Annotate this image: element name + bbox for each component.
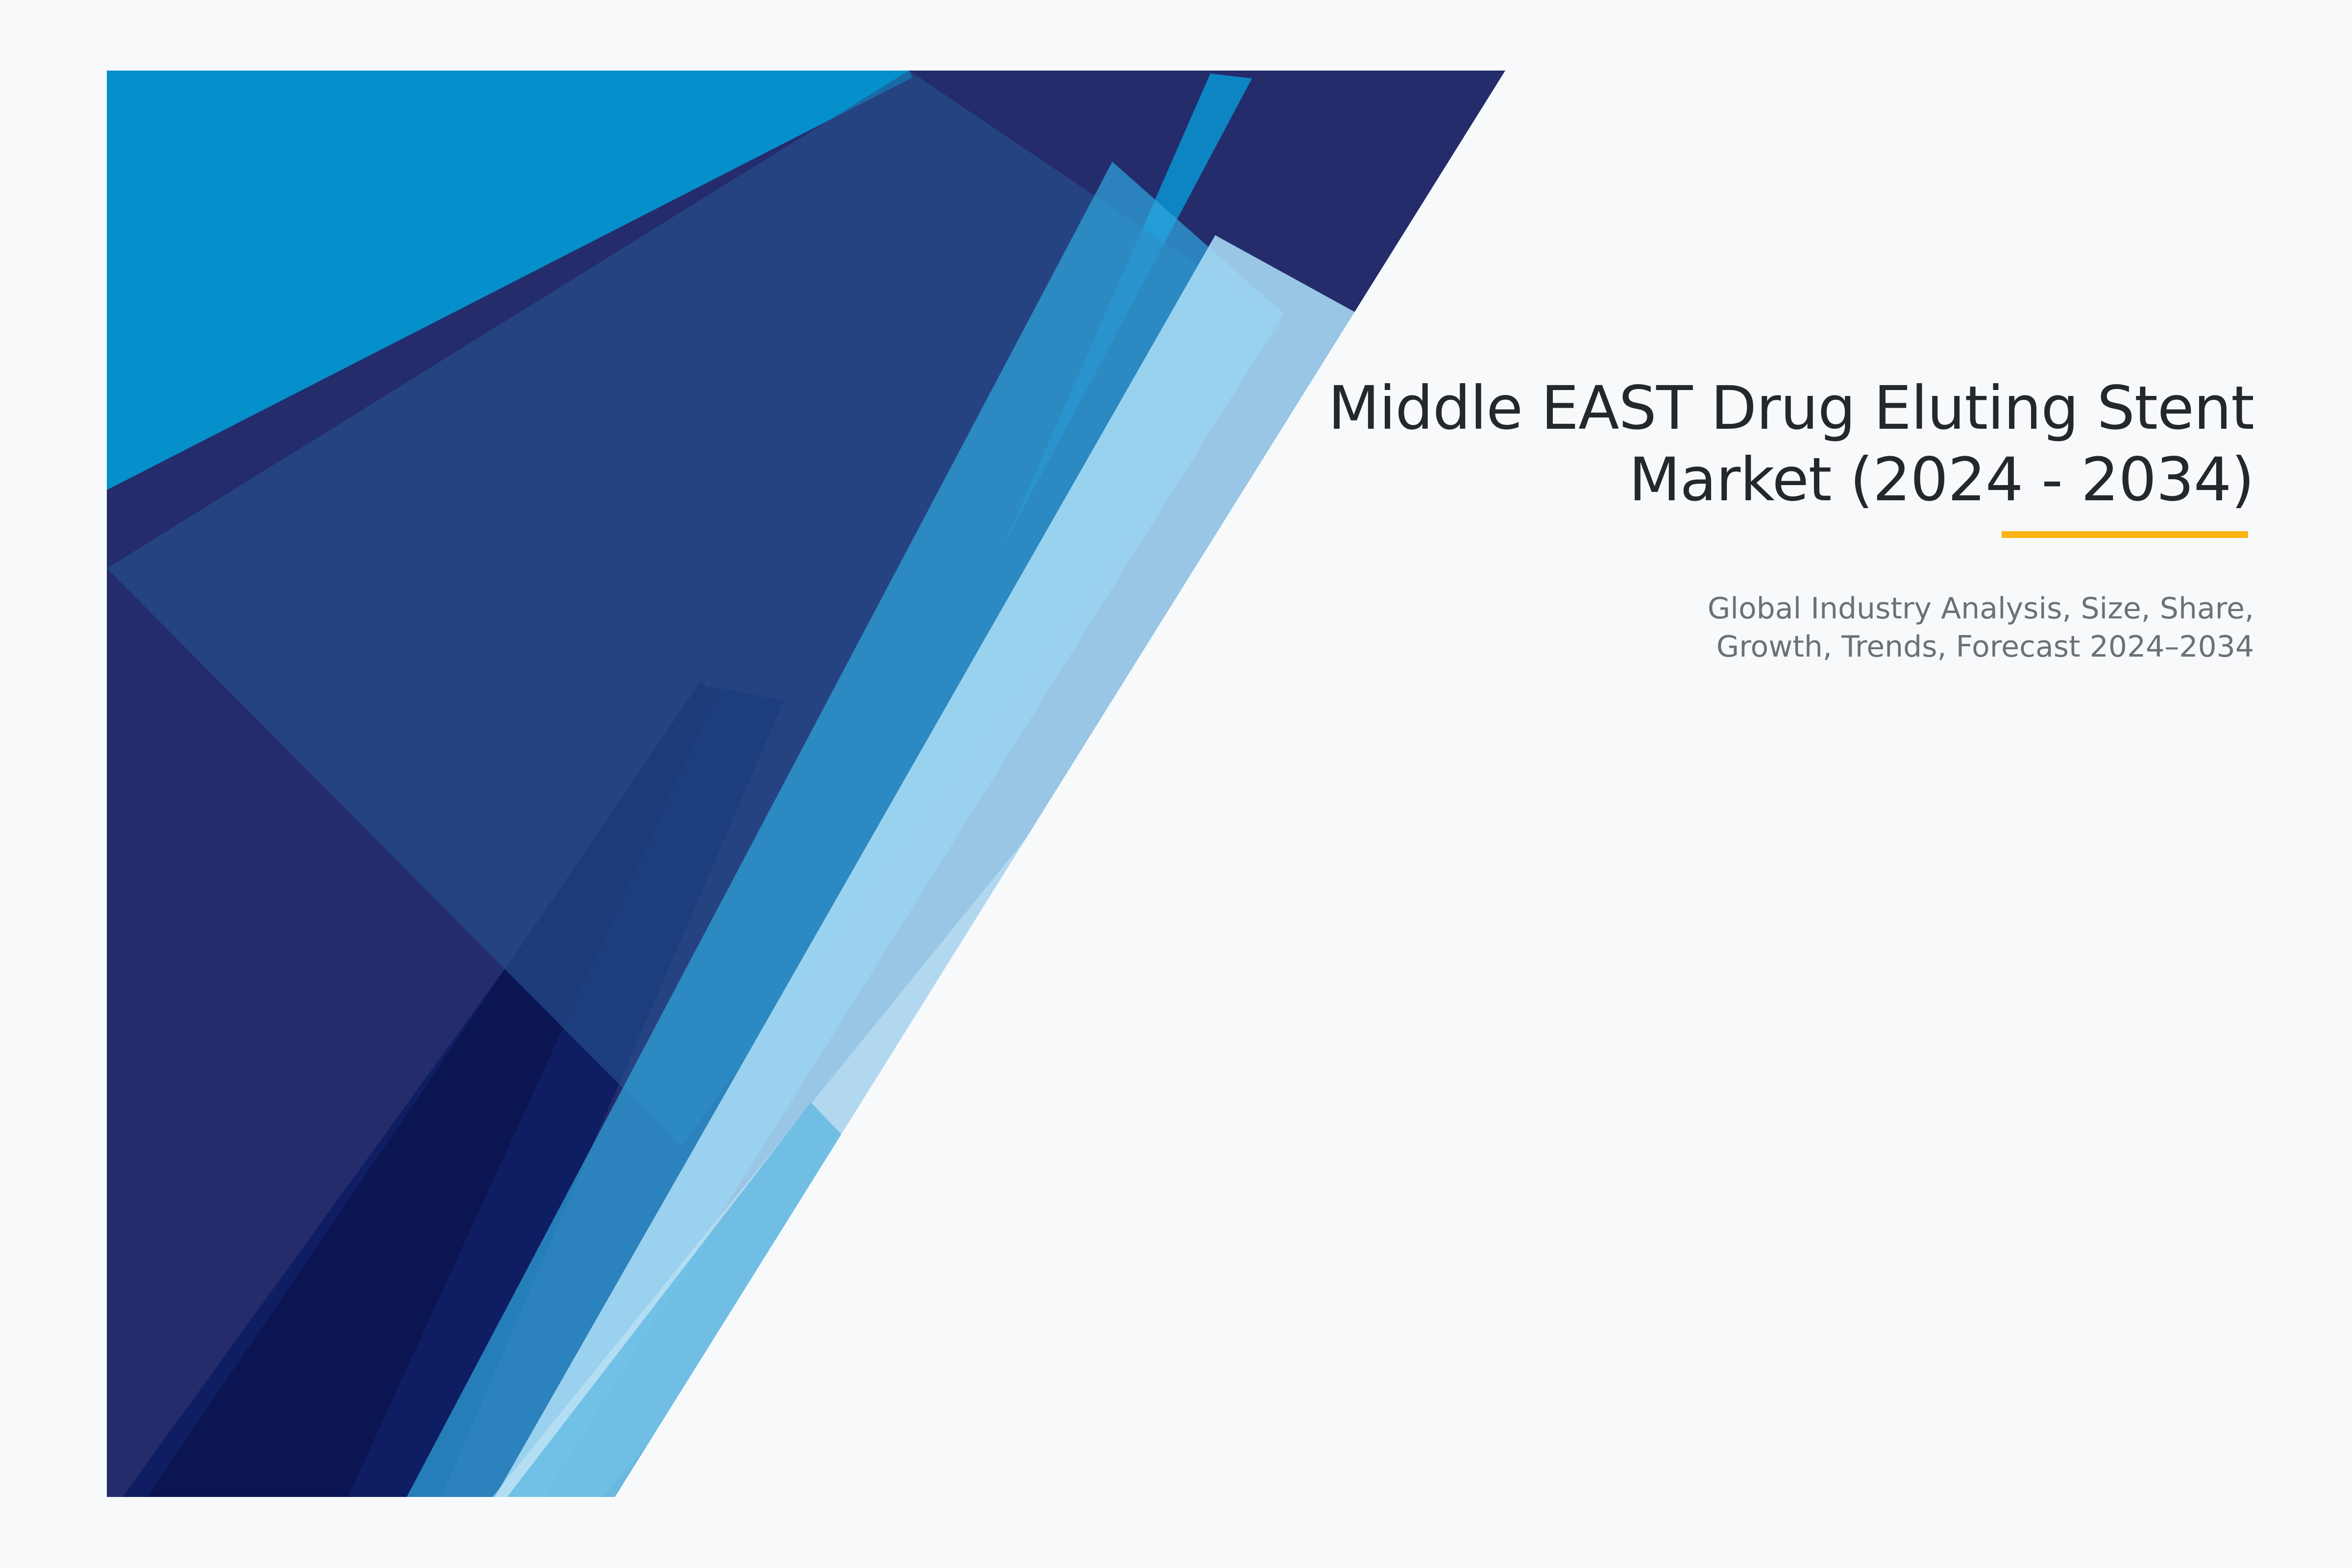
artwork-top-mask xyxy=(0,0,2352,71)
artwork-bottom-mask xyxy=(0,1497,2352,1568)
cover-text-block: Middle EAST Drug Eluting Stent Market (2… xyxy=(1068,372,2254,666)
abstract-polygon-artwork xyxy=(0,0,2352,1568)
page-title: Middle EAST Drug Eluting Stent Market (2… xyxy=(1068,372,2254,516)
report-cover-page: Middle EAST Drug Eluting Stent Market (2… xyxy=(0,0,2352,1568)
artwork-left-mask xyxy=(0,0,107,1568)
page-subtitle: Global Industry Analysis, Size, Share, G… xyxy=(1068,516,2254,666)
accent-underline xyxy=(2002,531,2248,538)
